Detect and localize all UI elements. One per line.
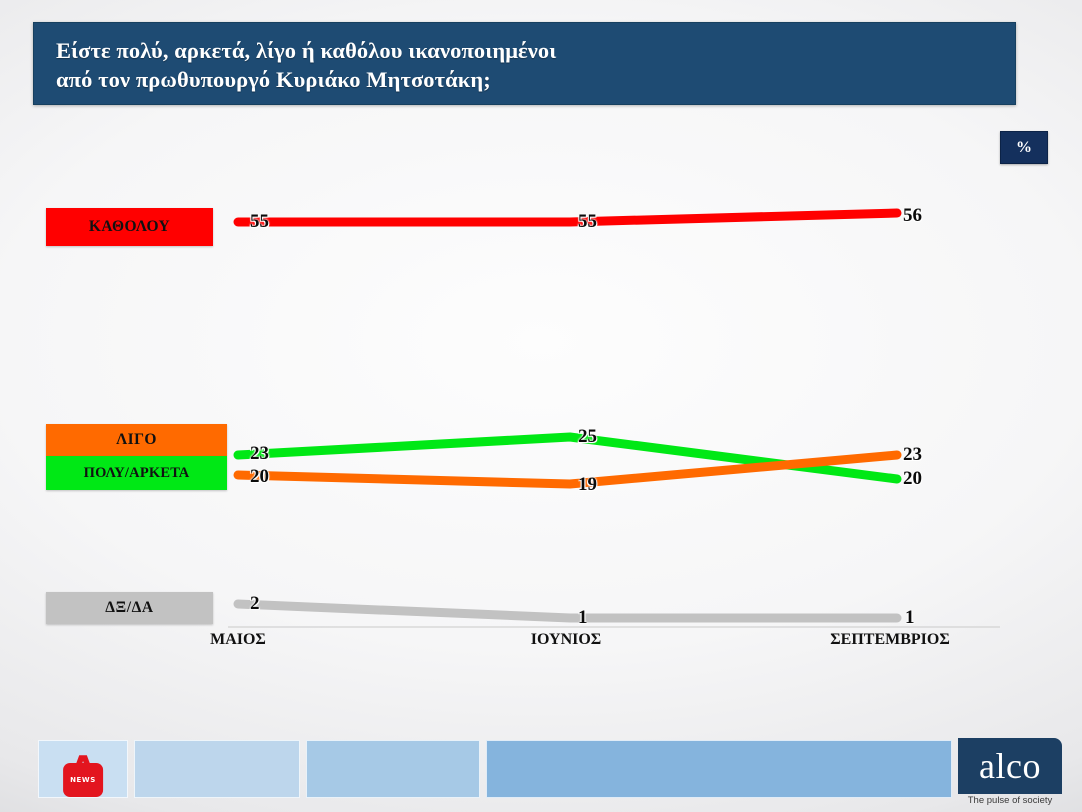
data-label-katholou-septemvrios: 56 <box>903 205 922 227</box>
alco-logo: alco <box>958 738 1062 794</box>
series-line-poly-arketa <box>238 437 897 479</box>
line-chart-plot <box>0 0 1082 812</box>
legend-item-katholou[interactable]: ΚΑΘΟΛΟΥ <box>46 208 213 246</box>
legend-label-dx-da: ΔΞ/ΔΑ <box>105 599 153 617</box>
data-label-ligo-septemvrios: 23 <box>903 444 922 466</box>
legend-item-dx-da[interactable]: ΔΞ/ΔΑ <box>46 592 213 624</box>
alco-wordmark: alco <box>979 748 1041 784</box>
legend-item-ligo[interactable]: ΛΙΓΟ <box>46 424 227 456</box>
series-line-katholou <box>238 213 897 222</box>
x-axis-label-septemvrios: ΣΕΠΤΕΜΒΡΙΟΣ <box>830 631 950 649</box>
footer-block-2 <box>306 740 480 798</box>
data-label-katholou-iounios: 55 <box>578 211 597 233</box>
data-label-katholou-maios: 55 <box>250 211 269 233</box>
data-label-ligo-maios: 20 <box>250 466 269 488</box>
data-label-dx-da-maios: 2 <box>250 593 260 615</box>
data-label-dx-da-septemvrios: 1 <box>905 607 915 629</box>
footer-bar: A NEWS <box>0 736 1082 812</box>
data-label-poly-arketa-maios: 23 <box>250 443 269 465</box>
series-line-dx-da <box>238 604 897 618</box>
page-title: Είστε πολύ, αρκετά, λίγο ή καθόλου ικανο… <box>56 36 1005 94</box>
data-label-poly-arketa-iounios: 25 <box>578 426 597 448</box>
legend-label-katholou: ΚΑΘΟΛΟΥ <box>89 218 170 236</box>
footer-block-3 <box>486 740 952 798</box>
alpha-news-logo: A NEWS <box>38 740 128 798</box>
percent-unit-badge: % <box>1000 131 1048 164</box>
data-label-ligo-iounios: 19 <box>578 474 597 496</box>
alco-tagline: The pulse of society <box>958 795 1062 806</box>
alpha-news-badge: NEWS <box>63 763 103 797</box>
alpha-a-icon: A NEWS <box>70 754 96 784</box>
data-label-poly-arketa-septemvrios: 20 <box>903 468 922 490</box>
footer-block-1 <box>134 740 300 798</box>
legend-label-ligo: ΛΙΓΟ <box>116 431 157 449</box>
title-bar: Είστε πολύ, αρκετά, λίγο ή καθόλου ικανο… <box>33 22 1016 105</box>
legend-item-poly-arketa[interactable]: ΠΟΛΥ/ΑΡΚΕΤΑ <box>46 456 227 490</box>
x-axis-label-iounios: ΙΟΥΝΙΟΣ <box>531 631 602 649</box>
series-line-ligo <box>238 455 897 484</box>
x-axis-label-maios: ΜΑΙΟΣ <box>210 631 266 649</box>
legend-label-poly-arketa: ΠΟΛΥ/ΑΡΚΕΤΑ <box>84 465 190 482</box>
data-label-dx-da-iounios: 1 <box>578 607 588 629</box>
